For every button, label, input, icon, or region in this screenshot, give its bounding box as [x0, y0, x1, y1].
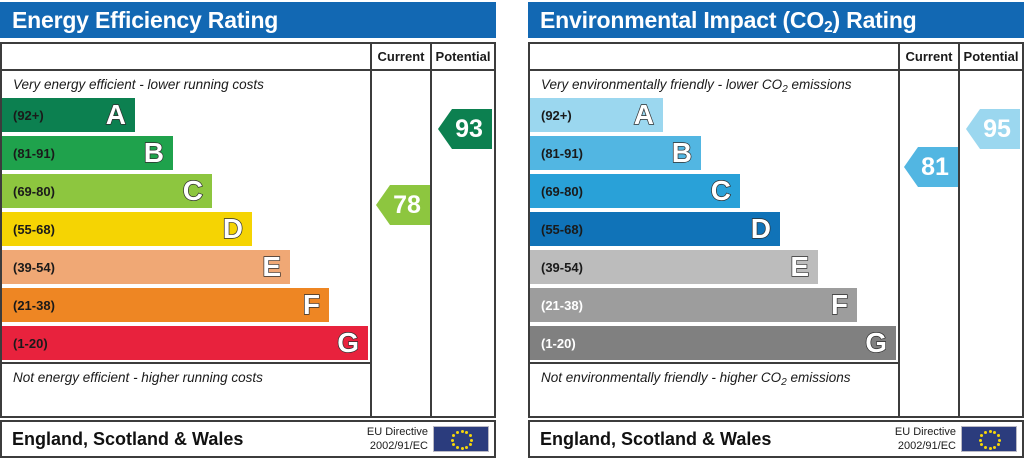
- energy-column-divider-1: [370, 71, 372, 416]
- eu-flag-star: [469, 434, 472, 437]
- co2-band-d: (55-68) D: [530, 212, 780, 246]
- eu-flag-star: [461, 447, 464, 450]
- energy-caption-top: Very energy efficient - lower running co…: [2, 71, 370, 98]
- eu-flag-star: [451, 439, 454, 442]
- eu-flag-star: [465, 431, 468, 434]
- co2-caption-bottom: Not environmentally friendly - higher CO…: [530, 362, 898, 390]
- eu-flag-star: [452, 443, 455, 446]
- energy-band-g: (1-20) G: [2, 326, 368, 360]
- co2-current-rating-badge: 81: [904, 147, 958, 187]
- co2-footer-directive: EU Directive 2002/91/EC: [870, 425, 956, 453]
- co2-band-a-range: (92+): [530, 108, 572, 123]
- energy-band-g-range: (1-20): [2, 336, 48, 351]
- co2-caption-bottom-sub: 2: [781, 377, 787, 388]
- co2-directive-line1: EU Directive: [870, 425, 956, 439]
- eu-flag-star: [997, 434, 1000, 437]
- energy-band-f-range: (21-38): [2, 298, 55, 313]
- co2-chart-body: Current Potential Very environmentally f…: [528, 42, 1024, 418]
- energy-band-b: (81-91) B: [2, 136, 173, 170]
- co2-chart-title-subscript: 2: [824, 19, 833, 36]
- co2-band-c-range: (69-80): [530, 184, 583, 199]
- eu-flag-star: [461, 430, 464, 433]
- co2-directive-line2: 2002/91/EC: [870, 439, 956, 453]
- co2-band-b-range: (81-91): [530, 146, 583, 161]
- co2-caption-top: Very environmentally friendly - lower CO…: [530, 71, 898, 98]
- energy-band-a: (92+) A: [2, 98, 135, 132]
- co2-band-a-letter: A: [634, 101, 654, 129]
- energy-efficiency-rating-chart: Energy Efficiency Rating Current Potenti…: [0, 2, 496, 458]
- co2-bands-group: (92+) A (81-91) B (69-80) C (55-68) D (3…: [530, 98, 898, 362]
- energy-directive-line2: 2002/91/EC: [342, 439, 428, 453]
- co2-current-column-header: Current: [898, 44, 958, 69]
- energy-band-d: (55-68) D: [2, 212, 252, 246]
- co2-band-c: (69-80) C: [530, 174, 740, 208]
- eu-flag-star: [980, 434, 983, 437]
- co2-caption-top-tail: emissions: [788, 77, 852, 92]
- energy-band-e-letter: E: [262, 253, 281, 281]
- energy-band-c-range: (69-80): [2, 184, 55, 199]
- co2-footer-region: England, Scotland & Wales: [540, 422, 771, 456]
- co2-band-g-letter: G: [865, 329, 887, 357]
- energy-band-b-letter: B: [144, 139, 164, 167]
- eu-flag-star: [997, 443, 1000, 446]
- co2-chart-title-text: Environmental Impact (CO: [540, 7, 824, 33]
- energy-band-c-letter: C: [183, 177, 203, 205]
- energy-footer-region: England, Scotland & Wales: [12, 422, 243, 456]
- eu-flag-star: [984, 446, 987, 449]
- co2-band-b: (81-91) B: [530, 136, 701, 170]
- energy-chart-body: Current Potential Very energy efficient …: [0, 42, 496, 418]
- co2-chart-title-tail: ) Rating: [833, 7, 917, 33]
- energy-current-rating-badge: 78: [376, 185, 430, 225]
- energy-caption-bottom: Not energy efficient - higher running co…: [2, 362, 370, 390]
- eu-flag-star: [452, 434, 455, 437]
- eu-flag-star: [989, 430, 992, 433]
- co2-band-g-range: (1-20): [530, 336, 576, 351]
- eu-flag-star: [993, 431, 996, 434]
- energy-band-d-range: (55-68): [2, 222, 55, 237]
- co2-caption-bottom-text: Not environmentally friendly - higher CO: [541, 370, 781, 385]
- co2-column-header-row: Current Potential: [530, 44, 1022, 71]
- energy-band-f-letter: F: [303, 291, 320, 319]
- eu-flag-star: [980, 443, 983, 446]
- co2-band-f: (21-38) F: [530, 288, 857, 322]
- co2-column-divider-2: [958, 71, 960, 416]
- co2-column-divider-1: [898, 71, 900, 416]
- co2-footer: England, Scotland & Wales EU Directive 2…: [528, 420, 1024, 458]
- co2-band-d-range: (55-68): [530, 222, 583, 237]
- energy-band-f: (21-38) F: [2, 288, 329, 322]
- co2-band-e-letter: E: [790, 253, 809, 281]
- energy-band-a-range: (92+): [2, 108, 44, 123]
- energy-current-column-header: Current: [370, 44, 430, 69]
- eu-flag-star: [993, 446, 996, 449]
- co2-chart-title: Environmental Impact (CO2) Rating: [528, 2, 1024, 38]
- co2-band-g: (1-20) G: [530, 326, 896, 360]
- co2-band-b-letter: B: [672, 139, 692, 167]
- co2-band-d-letter: D: [751, 215, 771, 243]
- eu-flag-star: [979, 439, 982, 442]
- epc-certificate-page: Energy Efficiency Rating Current Potenti…: [0, 0, 1024, 460]
- eu-flag-star: [456, 446, 459, 449]
- co2-band-f-letter: F: [831, 291, 848, 319]
- energy-band-e: (39-54) E: [2, 250, 290, 284]
- co2-potential-column-header: Potential: [958, 44, 1022, 69]
- co2-band-e-range: (39-54): [530, 260, 583, 275]
- eu-flag-icon-2: [961, 426, 1017, 452]
- eu-flag-star: [470, 439, 473, 442]
- energy-band-c: (69-80) C: [2, 174, 212, 208]
- eu-flag-star: [989, 447, 992, 450]
- eu-flag-star: [469, 443, 472, 446]
- co2-potential-rating-badge: 95: [966, 109, 1020, 149]
- co2-caption-top-sub: 2: [782, 84, 788, 95]
- co2-caption-top-text: Very environmentally friendly - lower CO: [541, 77, 782, 92]
- co2-band-f-range: (21-38): [530, 298, 583, 313]
- co2-band-c-letter: C: [711, 177, 731, 205]
- energy-potential-column-header: Potential: [430, 44, 494, 69]
- eu-flag-icon: [433, 426, 489, 452]
- energy-band-a-letter: A: [106, 101, 126, 129]
- energy-band-e-range: (39-54): [2, 260, 55, 275]
- energy-chart-title: Energy Efficiency Rating: [0, 2, 496, 38]
- energy-column-divider-2: [430, 71, 432, 416]
- energy-band-b-range: (81-91): [2, 146, 55, 161]
- co2-band-e: (39-54) E: [530, 250, 818, 284]
- energy-directive-line1: EU Directive: [342, 425, 428, 439]
- environmental-impact-rating-chart: Environmental Impact (CO2) Rating Curren…: [528, 2, 1024, 458]
- eu-flag-star: [456, 431, 459, 434]
- energy-bands-group: (92+) A (81-91) B (69-80) C (55-68) D (3…: [2, 98, 370, 362]
- energy-band-d-letter: D: [223, 215, 243, 243]
- eu-flag-star: [998, 439, 1001, 442]
- eu-flag-star: [984, 431, 987, 434]
- energy-footer: England, Scotland & Wales EU Directive 2…: [0, 420, 496, 458]
- energy-column-header-row: Current Potential: [2, 44, 494, 71]
- energy-potential-rating-badge: 93: [438, 109, 492, 149]
- energy-chart-title-text: Energy Efficiency Rating: [12, 7, 278, 33]
- energy-footer-directive: EU Directive 2002/91/EC: [342, 425, 428, 453]
- energy-band-g-letter: G: [337, 329, 359, 357]
- co2-caption-bottom-tail: emissions: [787, 370, 851, 385]
- eu-flag-star: [465, 446, 468, 449]
- co2-band-a: (92+) A: [530, 98, 663, 132]
